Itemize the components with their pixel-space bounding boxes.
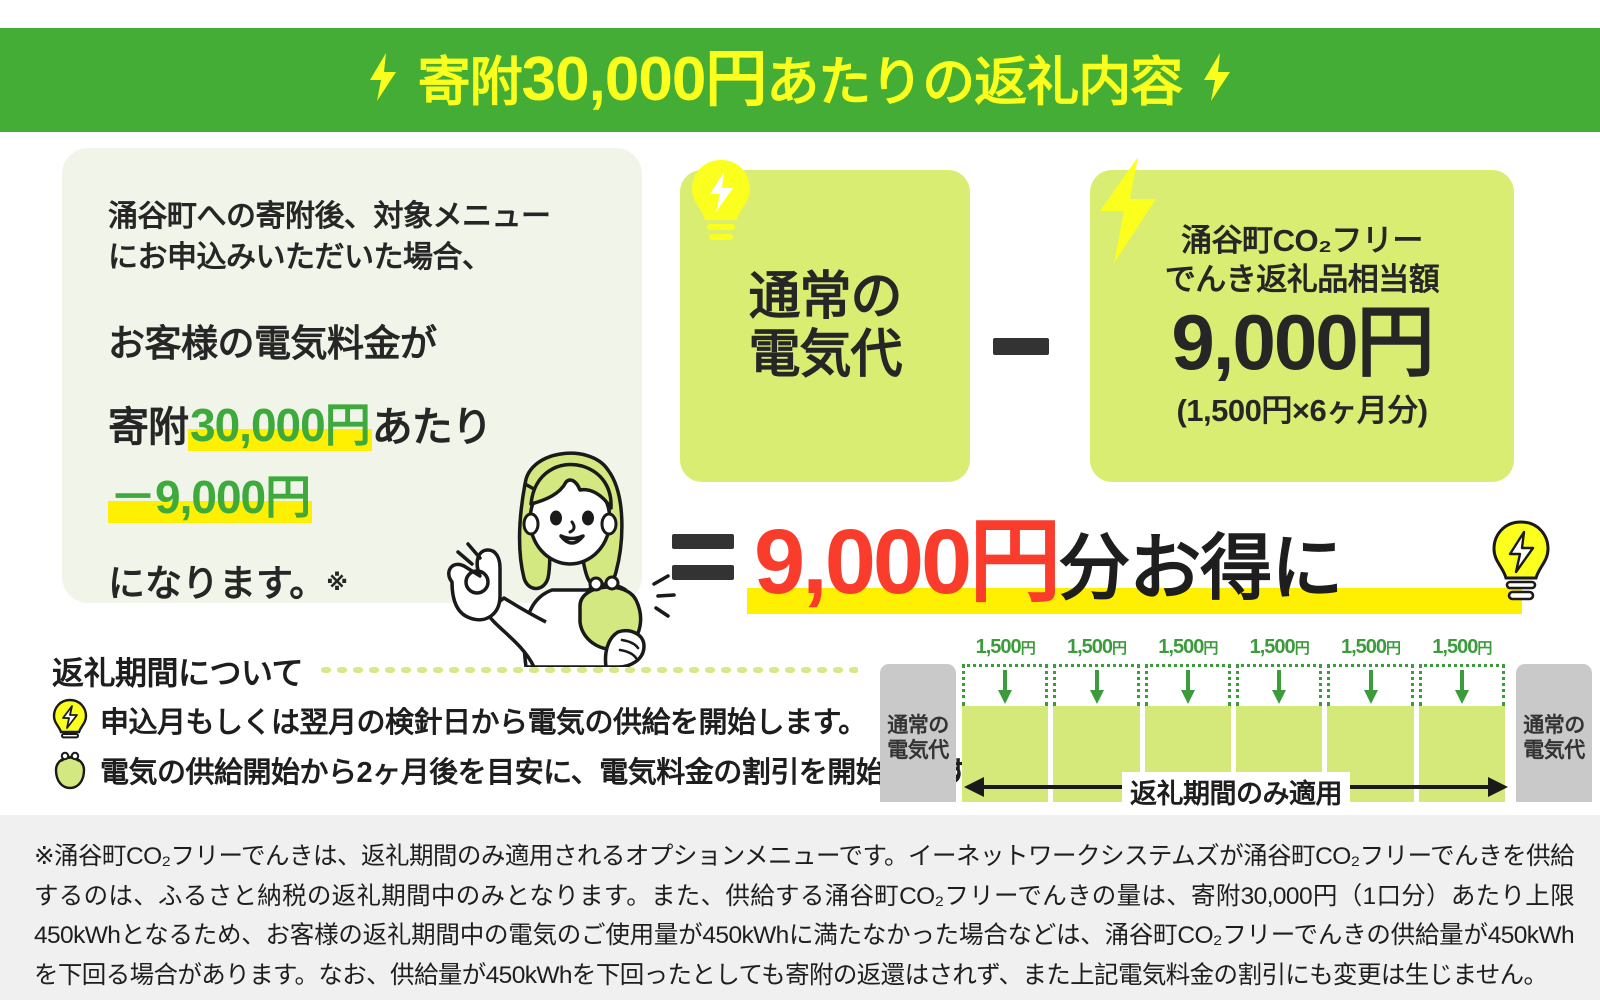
list-item: 電気の供給開始から2ヶ月後を目安に、電気料金の割引を開始します。 (52, 748, 995, 792)
lightning-bolt-icon-left (366, 53, 400, 108)
refund-period-arrow-label: 返礼期間のみ適用 (1122, 772, 1350, 811)
chart-discount-labels: 1,500円1,500円1,500円1,500円1,500円1,500円 (880, 636, 1592, 660)
bar-label-left-line1: 通常の (887, 713, 949, 739)
discount-label: 1,500円 (1145, 636, 1231, 659)
discount-label: 1,500円 (1419, 636, 1505, 659)
period-section-heading: 返礼期間について (52, 648, 303, 694)
header-title-suffix: あたりの返礼内容 (766, 53, 1182, 112)
minus-operator (993, 338, 1049, 355)
list-item-label: 電気の供給開始から2ヶ月後を目安に、電気料金の割引を開始します。 (100, 749, 995, 791)
refund-period-arrow: 返礼期間のみ適用 (962, 772, 1510, 802)
bar-label-right-line2: 電気代 (1523, 738, 1585, 764)
bar-label-right-line1: 通常の (1523, 713, 1585, 739)
coin-purse-icon (52, 748, 88, 792)
card-lead-text: 涌谷町への寄附後、対象メニュー にお申込みいただいた場合、 (108, 196, 608, 279)
lightning-bolt-icon-right (1200, 53, 1234, 108)
card-middle-text: お客様の電気料金が (108, 313, 608, 367)
lightning-bolt-icon (1086, 155, 1164, 265)
list-item-label: 申込月もしくは翌月の検針日から電気の供給を開始します。 (100, 699, 867, 741)
lightbulb-icon (52, 698, 88, 742)
result-equation-row: 9,000円分お得に (672, 512, 1592, 616)
discount-arrow-icon (1364, 670, 1378, 704)
result-tail: 分お得に (1058, 529, 1342, 609)
discount-arrow-icon (1181, 670, 1195, 704)
refund-amount: 9,000円 (1171, 302, 1432, 383)
card-tail-label: になります。 (108, 563, 326, 604)
normal-cost-bar-left: 通常の 電気代 (880, 664, 956, 802)
equals-operator (672, 534, 734, 592)
footnote-text: ※涌谷町CO₂フリーでんきは、返礼期間のみ適用されるオプションメニューです。イー… (34, 837, 1574, 996)
donation-amount: 30,000円 (188, 399, 372, 451)
bar-label-left: 通常の 電気代 (887, 713, 949, 764)
discount-arrow-icon (1455, 670, 1469, 704)
discount-arrow-icon (998, 670, 1012, 704)
refund-title-line2: でんき返礼品相当額 (1165, 261, 1440, 300)
card-asterisk: ※ (326, 570, 347, 595)
discount-label: 1,500円 (962, 636, 1048, 659)
refund-period-bar-chart: 1,500円1,500円1,500円1,500円1,500円1,500円 通常の… (880, 636, 1592, 806)
normal-cost-line1: 通常の (748, 268, 901, 326)
discount-label: 1,500円 (1236, 636, 1322, 659)
woman-ok-gesture-with-coin-purse-illustration (430, 432, 680, 667)
bar-label-right: 通常の 電気代 (1523, 713, 1585, 764)
card-lead-line1: 涌谷町への寄附後、対象メニュー (108, 196, 608, 237)
list-item: 申込月もしくは翌月の検針日から電気の供給を開始します。 (52, 698, 867, 742)
header-banner: 寄附30,000円あたりの返礼内容 (0, 28, 1600, 132)
dotted-divider (318, 665, 858, 675)
normal-cost-bar-right: 通常の 電気代 (1516, 664, 1592, 802)
refund-title-line1: 涌谷町CO₂フリー (1181, 222, 1423, 261)
infographic-page: 寄附30,000円あたりの返礼内容 涌谷町への寄附後、対象メニュー にお申込みい… (0, 0, 1600, 1000)
bar-label-left-line2: 電気代 (887, 738, 949, 764)
lightbulb-icon (688, 158, 754, 250)
discount-arrow-icon (1090, 670, 1104, 704)
discount-label: 1,500円 (1327, 636, 1413, 659)
header-title-prefix: 寄附 (418, 53, 522, 112)
discount-label: 1,500円 (1053, 636, 1139, 659)
donation-prefix: 寄附 (108, 404, 188, 450)
discount-amount: －9,000円 (108, 471, 312, 523)
discount-arrow-icon (1272, 670, 1286, 704)
lightbulb-icon-result (1490, 520, 1552, 606)
refund-breakdown: (1,500円×6ヶ月分) (1176, 385, 1427, 430)
footnote-band: ※涌谷町CO₂フリーでんきは、返礼期間のみ適用されるオプションメニューです。イー… (0, 815, 1600, 1000)
result-text: 9,000円分お得に (754, 516, 1342, 608)
card-lead-line2: にお申込みいただいた場合、 (108, 237, 608, 278)
result-amount: 9,000円 (754, 511, 1058, 613)
header-title-amount: 30,000円 (522, 45, 767, 114)
normal-cost-line2: 電気代 (748, 326, 901, 384)
page-title: 寄附30,000円あたりの返礼内容 (418, 49, 1183, 111)
